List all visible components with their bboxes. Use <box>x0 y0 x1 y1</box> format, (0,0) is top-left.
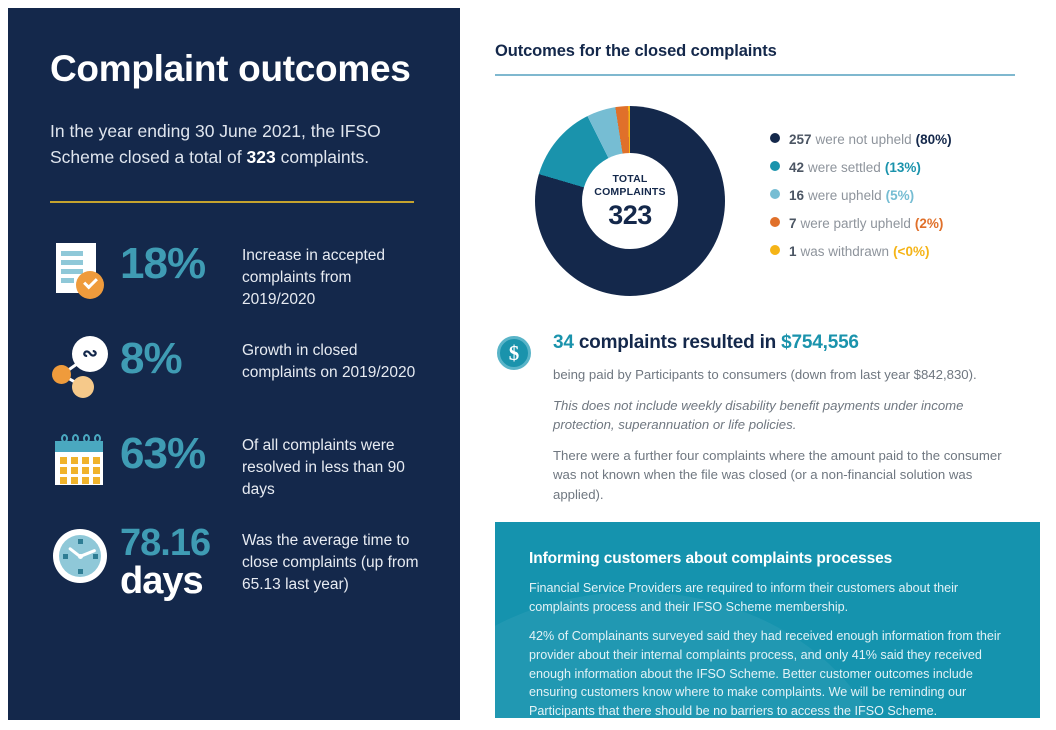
legend-color-dot <box>770 245 780 255</box>
callout-paragraph-1: Financial Service Providers are required… <box>529 579 1006 616</box>
legend-count: 7 <box>789 216 797 231</box>
payments-paragraph-1: being paid by Participants to consumers … <box>553 365 1023 385</box>
legend-percent: (13%) <box>885 160 921 175</box>
network-share-icon: ∾ <box>50 336 112 398</box>
legend-item: 16 were upheld (5%) <box>770 188 1050 203</box>
legend-item: 257 were not upheld (80%) <box>770 132 1050 147</box>
payments-headline: 34 complaints resulted in $754,556 <box>553 332 1040 354</box>
chart-title-divider <box>495 74 1015 76</box>
informing-customers-callout: Informing customers about complaints pro… <box>495 522 1040 718</box>
stat-value: 8% <box>112 330 242 380</box>
legend-percent: (2%) <box>915 216 944 231</box>
left-summary-panel: Complaint outcomes In the year ending 30… <box>8 8 460 720</box>
donut-label-line2: COMPLAINTS <box>594 186 665 198</box>
payments-amount: $754,556 <box>781 332 859 353</box>
intro-total-count: 323 <box>247 147 276 167</box>
dollar-coin-icon: $ <box>497 336 531 370</box>
legend-item: 1 was withdrawn (<0%) <box>770 244 1050 259</box>
stat-description: Growth in closed complaints on 2019/2020 <box>242 330 420 384</box>
legend-color-dot <box>770 161 780 171</box>
stat-row-closed-growth: ∾ 8% Growth in closed complaints on 2019… <box>50 330 420 425</box>
legend-count: 42 <box>789 160 804 175</box>
payments-summary: $ 34 complaints resulted in $754,556 bei… <box>495 332 1040 504</box>
legend-item: 7 were partly upheld (2%) <box>770 216 1050 231</box>
stat-value-number: 78.16 <box>120 522 210 564</box>
stat-value: 78.16 days <box>112 520 242 602</box>
callout-paragraph-2: 42% of Complainants surveyed said they h… <box>529 627 1006 718</box>
donut-center: TOTAL COMPLAINTS 323 <box>582 153 678 249</box>
legend-color-dot <box>770 217 780 227</box>
stat-row-accepted-increase: 18% Increase in accepted complaints from… <box>50 235 420 330</box>
calendar-icon <box>50 431 112 493</box>
legend-count: 1 <box>789 244 797 259</box>
stat-row-average-close-time: 78.16 days Was the average time to close… <box>50 520 420 615</box>
check-badge-icon <box>76 271 104 299</box>
payments-paragraph-2: This does not include weekly disability … <box>553 396 1023 435</box>
legend-percent: (<0%) <box>893 244 929 259</box>
stat-description: Was the average time to close complaints… <box>242 520 420 596</box>
intro-paragraph: In the year ending 30 June 2021, the IFS… <box>50 118 390 171</box>
stat-description: Of all complaints were resolved in less … <box>242 425 420 501</box>
stat-description: Increase in accepted complaints from 201… <box>242 235 420 311</box>
stat-value-unit: days <box>120 562 242 601</box>
infographic-page: Complaint outcomes In the year ending 30… <box>0 0 1056 730</box>
stat-value: 63% <box>112 425 242 475</box>
chart-title: Outcomes for the closed complaints <box>495 42 777 61</box>
payments-paragraph-3: There were a further four complaints whe… <box>553 446 1023 505</box>
intro-text-post: complaints. <box>276 147 369 167</box>
legend-count: 16 <box>789 188 804 203</box>
legend-color-dot <box>770 133 780 143</box>
legend-label: was withdrawn <box>801 244 890 259</box>
stat-row-resolved-90-days: 63% Of all complaints were resolved in l… <box>50 425 420 520</box>
gold-divider <box>50 201 414 203</box>
legend-count: 257 <box>789 132 812 147</box>
donut-label-line1: TOTAL <box>612 173 647 185</box>
legend-item: 42 were settled (13%) <box>770 160 1050 175</box>
legend-percent: (80%) <box>916 132 952 147</box>
callout-title: Informing customers about complaints pro… <box>529 550 1006 568</box>
donut-total-value: 323 <box>608 202 652 229</box>
payments-count: 34 <box>553 332 574 353</box>
legend-label: were not upheld <box>816 132 912 147</box>
legend-label: were upheld <box>808 188 882 203</box>
clock-icon <box>50 526 112 588</box>
page-title: Complaint outcomes <box>50 46 420 92</box>
donut-chart: TOTAL COMPLAINTS 323 <box>535 106 735 296</box>
stats-list: 18% Increase in accepted complaints from… <box>50 235 420 615</box>
document-check-icon <box>50 241 112 303</box>
legend-color-dot <box>770 189 780 199</box>
donut-center-label: TOTAL COMPLAINTS <box>594 173 665 199</box>
legend-label: were settled <box>808 160 881 175</box>
chart-legend: 257 were not upheld (80%) 42 were settle… <box>770 132 1050 272</box>
payments-headline-mid: complaints resulted in <box>574 332 781 353</box>
right-content-column: Outcomes for the closed complaints TOTAL… <box>495 0 1056 730</box>
stat-value: 18% <box>112 235 242 285</box>
legend-label: were partly upheld <box>801 216 911 231</box>
legend-percent: (5%) <box>886 188 915 203</box>
